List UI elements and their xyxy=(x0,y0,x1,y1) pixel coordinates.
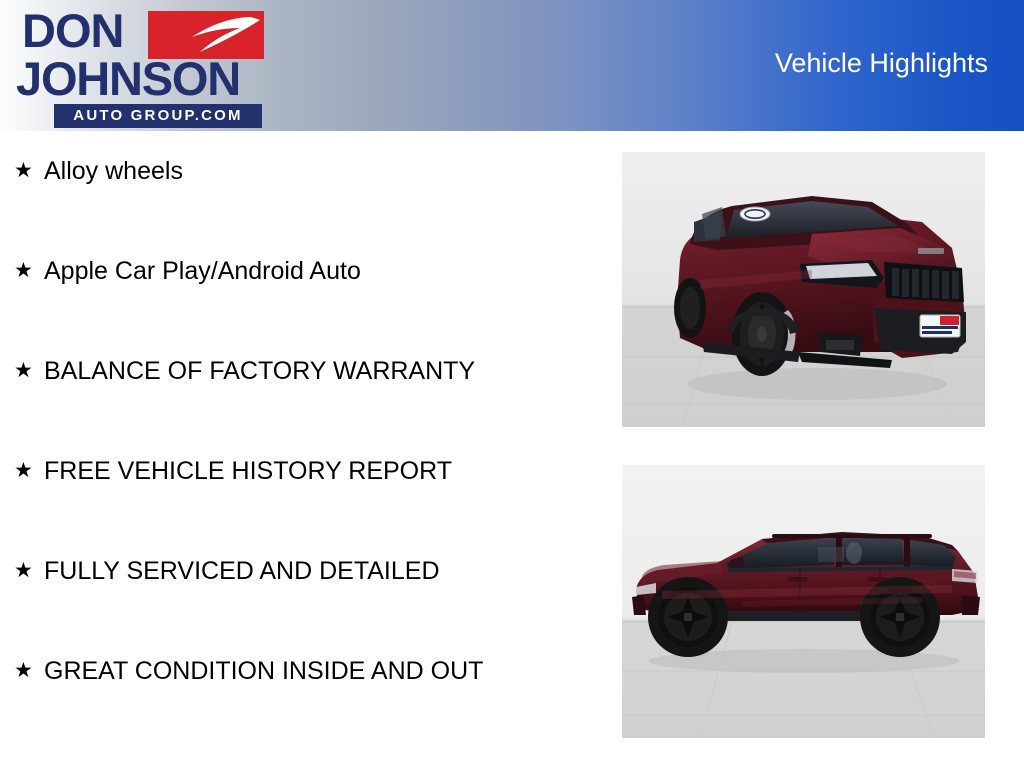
star-bullet-icon: ★ xyxy=(14,255,44,287)
highlight-label: Apple Car Play/Android Auto xyxy=(44,255,534,287)
star-bullet-icon: ★ xyxy=(14,455,44,487)
highlight-label: FREE VEHICLE HISTORY REPORT xyxy=(44,455,534,487)
vehicle-side-profile-image xyxy=(622,465,985,738)
vehicle-highlights-list: ★ Alloy wheels ★ Apple Car Play/Android … xyxy=(0,131,612,768)
highlight-item: ★ Alloy wheels xyxy=(0,155,612,255)
star-bullet-icon: ★ xyxy=(14,155,44,187)
logo-text-line1: DON xyxy=(22,6,123,56)
vehicle-photo-front-three-quarter xyxy=(622,152,985,427)
highlight-item: ★ FREE VEHICLE HISTORY REPORT xyxy=(0,455,612,555)
highlight-item: ★ GREAT CONDITION INSIDE AND OUT xyxy=(0,655,612,755)
vehicle-front-three-quarter-image xyxy=(622,152,985,427)
star-bullet-icon: ★ xyxy=(14,555,44,587)
page-header: DON JOHNSON AUTO GROUP.COM Vehicle Highl… xyxy=(0,0,1024,131)
star-bullet-icon: ★ xyxy=(14,355,44,387)
star-bullet-icon: ★ xyxy=(14,655,44,687)
highlight-label: FULLY SERVICED AND DETAILED xyxy=(44,555,534,587)
highlight-item: ★ BALANCE OF FACTORY WARRANTY xyxy=(0,355,612,455)
dealer-logo: DON JOHNSON AUTO GROUP.COM xyxy=(12,4,262,130)
logo-text-line2: JOHNSON xyxy=(16,54,240,104)
page-title: Vehicle Highlights xyxy=(775,48,988,79)
vehicle-photo-side-profile xyxy=(622,465,985,738)
highlight-label: BALANCE OF FACTORY WARRANTY xyxy=(44,355,534,387)
highlight-item: ★ FULLY SERVICED AND DETAILED xyxy=(0,555,612,655)
highlight-label: Alloy wheels xyxy=(44,155,534,187)
highlight-label: GREAT CONDITION INSIDE AND OUT xyxy=(44,655,534,687)
logo-tagline-bar: AUTO GROUP.COM xyxy=(54,104,262,128)
highlight-item: ★ Apple Car Play/Android Auto xyxy=(0,255,612,355)
logo-tagline: AUTO GROUP.COM xyxy=(54,104,262,128)
